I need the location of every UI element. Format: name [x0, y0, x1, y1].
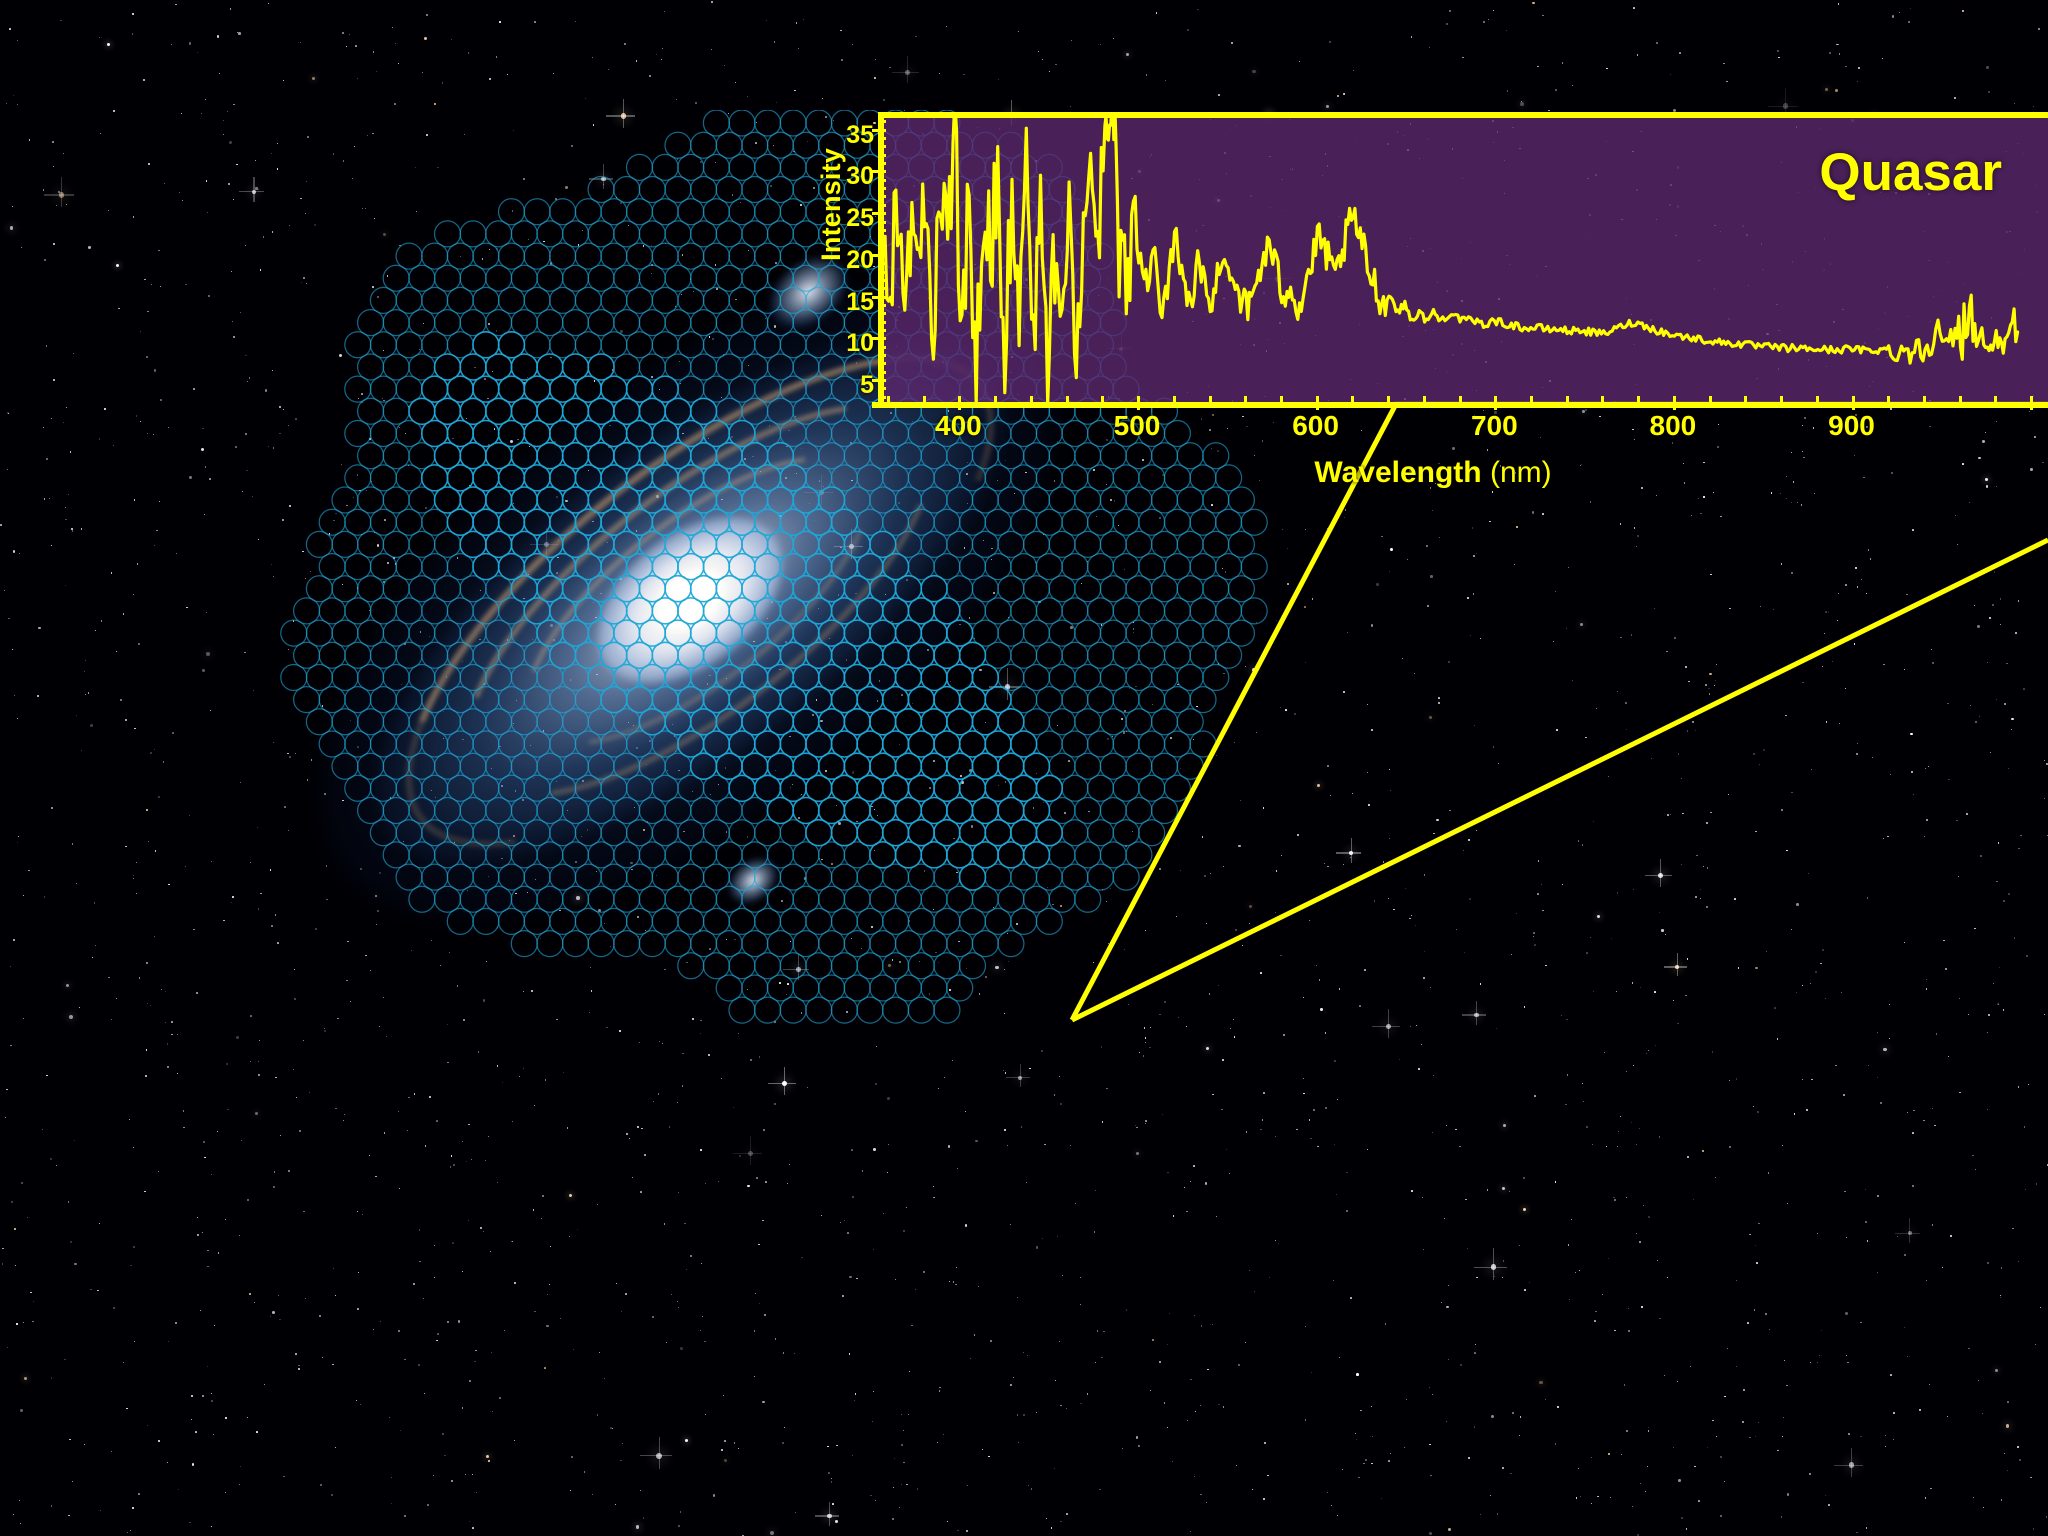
- x-axis-tickmarks: [878, 396, 2048, 410]
- x-axis-label: Wavelength (nm): [818, 456, 2048, 490]
- x-tick-label: 600: [1292, 410, 1339, 442]
- x-tick-label: 900: [1828, 410, 1875, 442]
- y-tick-label: 30: [828, 162, 874, 191]
- y-tick-label: 5: [828, 371, 874, 400]
- x-tick-label: 700: [1471, 410, 1518, 442]
- x-axis-label-text: Wavelength: [1314, 456, 1481, 489]
- x-tick-label: 800: [1650, 410, 1697, 442]
- y-tick-label: 35: [828, 121, 874, 150]
- x-tick-label: 500: [1114, 410, 1161, 442]
- y-axis-ticks: 3530252015105: [818, 104, 874, 404]
- x-axis-unit: (nm): [1490, 456, 1552, 489]
- y-tick-label: 10: [828, 329, 874, 358]
- y-tick-label: 20: [828, 246, 874, 275]
- x-tick-label: 400: [935, 410, 982, 442]
- y-tick-label: 25: [828, 204, 874, 233]
- screenshot-root: Intensity 3530252015105 4005006007008009…: [0, 0, 2048, 1536]
- x-axis-ticks: 400500600700800900: [878, 410, 2048, 454]
- series-title: Quasar: [1819, 142, 2002, 203]
- spectrum-inset-panel: Intensity 3530252015105 4005006007008009…: [818, 104, 2048, 404]
- y-tick-label: 15: [828, 288, 874, 317]
